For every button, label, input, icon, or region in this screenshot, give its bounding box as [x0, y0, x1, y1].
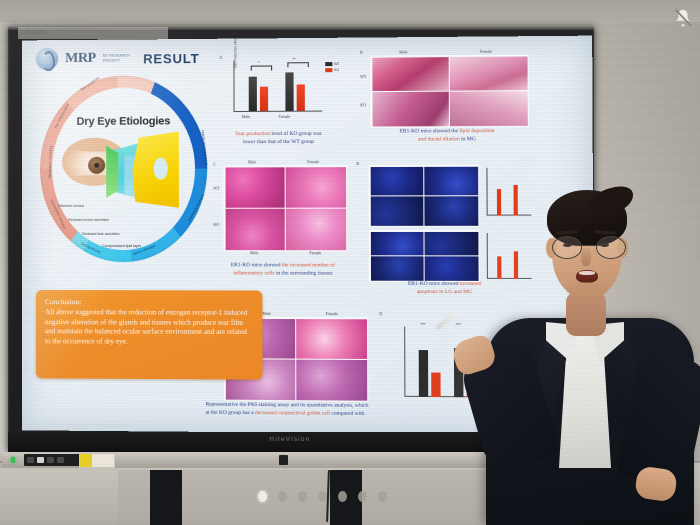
figure-c-micrographs — [223, 165, 347, 251]
figure-b-micrographs — [370, 54, 529, 127]
figure-e-col-female: Female — [326, 311, 338, 316]
micrograph-d-mg-wt-female — [425, 231, 478, 255]
legend-swatch-ko — [325, 68, 332, 72]
caption-b-line2b: in MG — [460, 136, 476, 142]
caption-a-highlight: Tear production — [235, 131, 270, 137]
caption-a-line1-rest: level of KO group was — [270, 131, 322, 137]
presenter-hair-sweep — [588, 184, 636, 219]
figure-c-row-ko: KO — [213, 222, 219, 227]
bar-e-wt-male — [419, 350, 428, 397]
sig-bracket-female — [287, 62, 308, 67]
caption-e-highlight: decreased conjunctival goblet cell — [255, 410, 330, 417]
caption-c: ER1-KO mice showed the increased number … — [205, 262, 360, 278]
caption-b-line2a: and ductal dilation — [418, 136, 460, 142]
display-control-panel[interactable] — [24, 454, 82, 466]
micrograph-d-lg-ko-female — [425, 197, 478, 226]
micrograph-d-lg-ko-male — [370, 197, 423, 226]
caution-text — [92, 454, 114, 467]
logo-subtitle-2: PROJECT — [103, 58, 130, 63]
sig-star-male: * — [258, 60, 260, 65]
tear-film-gap — [154, 158, 168, 180]
inner-label-reduced-mucin: Reduced mucin secretion — [68, 218, 109, 222]
figure-c-col-male: Male — [248, 159, 256, 164]
wall-plate-label: HiHub — [18, 27, 168, 39]
sig-e-male: *** — [421, 322, 426, 327]
stand-leg-left — [150, 470, 182, 525]
presenter — [478, 150, 700, 525]
bar-ko-female — [297, 84, 305, 110]
bar-wt-female — [285, 72, 293, 110]
conclusion-heading: Conclusion: — [45, 297, 253, 307]
figure-b-col-female: Female — [480, 49, 492, 54]
inner-label-reduced-tear: Reduced tear secretion — [82, 232, 119, 236]
micrograph-b-wt-female — [450, 56, 527, 90]
caption-a-line2: lower than that of the WT group — [211, 139, 346, 147]
figure-a-tick-male: Male — [242, 114, 250, 119]
figure-a-axes: Tear Production (mm) * ** — [233, 60, 322, 112]
micrograph-d-lg-wt-male — [370, 166, 423, 195]
dry-eye-etiologies-infographic: Dry Eye Etiologies Eye surgeries Eye inf… — [40, 75, 207, 262]
slide-header: MRP MY RESEARCH PROJECT RESULT — [36, 47, 199, 70]
mrp-logo-icon — [36, 48, 58, 70]
legend-label-wt: WT — [334, 62, 339, 66]
figure-b-row-ko: KO — [360, 102, 366, 107]
legend-item-wt: WT — [325, 62, 340, 66]
micrograph-c-wt-male — [225, 167, 284, 208]
control-button-volume-down[interactable] — [47, 457, 54, 463]
sig-bracket-male — [251, 65, 272, 70]
caption-c-line2a: inflammatory cells — [233, 270, 274, 276]
slide-dot-1[interactable] — [258, 491, 267, 502]
micrograph-c-wt-female — [286, 167, 346, 208]
micrograph-c-ko-female — [286, 209, 346, 250]
conclusion-body: All above suggested that the reduction o… — [45, 308, 253, 348]
bar-wt-male — [249, 77, 257, 111]
micrograph-b-wt-male — [372, 57, 449, 91]
slide-dot-7[interactable] — [378, 491, 387, 502]
slide-dot-6[interactable] — [358, 491, 367, 502]
glasses-bridge — [580, 245, 596, 246]
caption-a: Tear production level of KO group was lo… — [211, 131, 346, 147]
infographic-title: Dry Eye Etiologies — [40, 115, 207, 128]
caption-b: ER1-KO mice showed the lipid deposition … — [356, 128, 538, 145]
caption-e: Representative the PAS staining assay an… — [206, 402, 505, 420]
micrograph-d-mg-wt-male — [370, 231, 423, 255]
display-brand-label: HiteVision — [247, 436, 333, 443]
micrograph-b-ko-male — [372, 92, 449, 126]
micrograph-d-mg-ko-male — [370, 257, 423, 281]
slide-indicator-dots[interactable] — [258, 491, 387, 502]
slide-title: RESULT — [143, 50, 199, 65]
figure-e-col-male: Male — [262, 311, 270, 316]
figure-a-tear-production: A Tear Production (mm) * ** — [219, 54, 337, 127]
figure-a-letter: A — [219, 55, 222, 60]
micrograph-d-mg-ko-female — [425, 257, 478, 281]
figure-c-bottom-male: Male — [250, 250, 258, 255]
presenter-neck — [566, 292, 606, 336]
sig-e-female: *** — [456, 322, 461, 327]
figure-b-letter: B — [360, 50, 363, 55]
slide-dot-3[interactable] — [298, 491, 307, 502]
sig-star-female: ** — [292, 56, 295, 61]
micrograph-c-ko-male — [225, 209, 284, 250]
iris — [88, 157, 105, 174]
caution-label — [79, 453, 115, 468]
logo-wordmark: MRP — [65, 52, 96, 66]
figure-d-micrographs-mg — [369, 230, 480, 282]
figure-c-letter: C — [213, 161, 216, 166]
legend-item-ko: KO — [325, 68, 340, 72]
figure-a-tick-female: Female — [278, 114, 290, 119]
caution-icon — [80, 454, 92, 467]
ir-sensor — [279, 455, 288, 465]
bar-ko-male — [260, 87, 268, 111]
caption-e-line2a: at the KO group has a — [206, 409, 255, 415]
slide-dot-2[interactable] — [278, 491, 287, 502]
glasses-lens-left — [552, 236, 582, 259]
inner-label-lipid-layer: Compromised lipid layer — [102, 244, 141, 248]
control-button-menu[interactable] — [27, 457, 34, 463]
slide-dot-4[interactable] — [318, 491, 327, 502]
bell-muted-icon — [672, 6, 694, 30]
micrograph-b-ko-female — [450, 91, 527, 125]
control-button-source[interactable] — [37, 457, 44, 463]
figure-b-col-male: Male — [399, 49, 407, 54]
caption-c-line2b: in the surrounding tissues — [275, 270, 333, 276]
micrograph-e-ko-female — [297, 360, 367, 400]
micrograph-d-lg-wt-female — [425, 166, 478, 195]
figure-c-row-wt: WT — [213, 186, 219, 191]
legend-swatch-wt — [325, 62, 332, 66]
tear-film-mucin-layer — [106, 146, 118, 198]
conclusion-box: Conclusion: All above suggested that the… — [36, 290, 263, 380]
bar-e-ko-male — [431, 373, 440, 398]
wall-plate-text: HiHub — [18, 27, 168, 39]
figure-d-micrographs-lg — [369, 165, 480, 227]
caption-c-pre: ER1-KO mice showed — [231, 262, 282, 268]
slide-dot-5[interactable] — [338, 491, 347, 502]
caption-e-line2b: compared with — [330, 410, 365, 416]
figure-f-letter: D — [379, 311, 382, 316]
scene: HiHub MRP MY RESEARCH PROJECT RESULT Dr — [0, 0, 700, 525]
legend-label-ko: KO — [334, 68, 339, 72]
figure-c-bottom-female: Female — [309, 250, 321, 255]
caption-d-pre: ER1-KO mice showed — [408, 281, 460, 287]
power-led-indicator — [11, 457, 15, 463]
caption-b-highlight: lipid deposition — [459, 128, 494, 134]
figure-d-letter: D — [356, 161, 359, 166]
presenter-chin — [566, 282, 608, 298]
figure-a-ylabel: Tear Production (mm) — [233, 38, 237, 69]
glasses-lens-right — [596, 236, 626, 259]
figure-b-row-wt: WT — [360, 74, 366, 79]
caption-b-pre: ER1-KO mice showed the — [399, 128, 459, 134]
micrograph-e-wt-female — [296, 319, 366, 359]
figure-a-legend: WT KO — [325, 62, 340, 74]
figure-c-col-female: Female — [307, 159, 319, 164]
presenter-nose — [581, 248, 591, 266]
ceiling-trim — [0, 0, 700, 22]
caption-c-highlight: the increased number of — [282, 262, 335, 268]
control-button-volume-up[interactable] — [57, 457, 64, 463]
inner-label-inflamed-cornea: Inflamed cornea — [58, 204, 84, 208]
